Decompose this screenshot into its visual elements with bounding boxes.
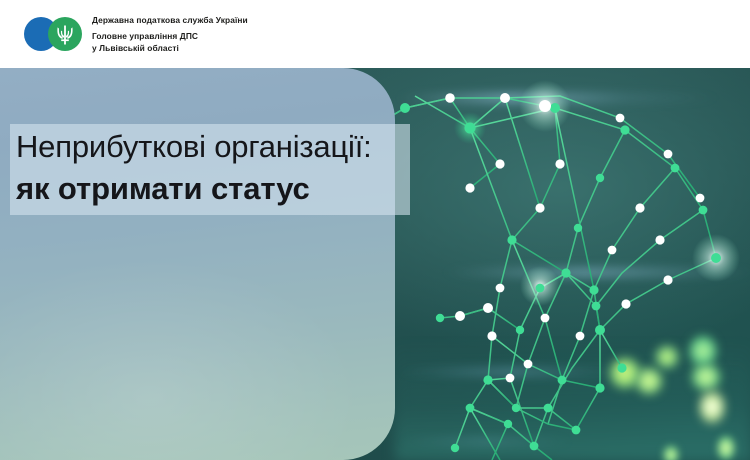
banner-title-line-2: як отримати статус [16, 168, 406, 210]
title-panel: Неприбуткові організації: як отримати ст… [0, 68, 395, 460]
banner-title: Неприбуткові організації: як отримати ст… [16, 126, 406, 210]
trident-icon [55, 24, 75, 46]
department-line-1: Головне управління ДПС [92, 31, 342, 43]
dps-logo [24, 16, 84, 52]
banner-title-line-1: Неприбуткові організації: [16, 126, 406, 168]
header-text-block: Державна податкова служба України Головн… [92, 15, 342, 54]
department-name: Головне управління ДПС у Львівській обла… [92, 31, 342, 54]
organization-name: Державна податкова служба України [92, 15, 342, 26]
banner-screenshot: Неприбуткові організації: як отримати ст… [0, 0, 750, 460]
department-line-2: у Львівській області [92, 43, 342, 55]
page-header: Державна податкова служба України Головн… [0, 0, 750, 68]
